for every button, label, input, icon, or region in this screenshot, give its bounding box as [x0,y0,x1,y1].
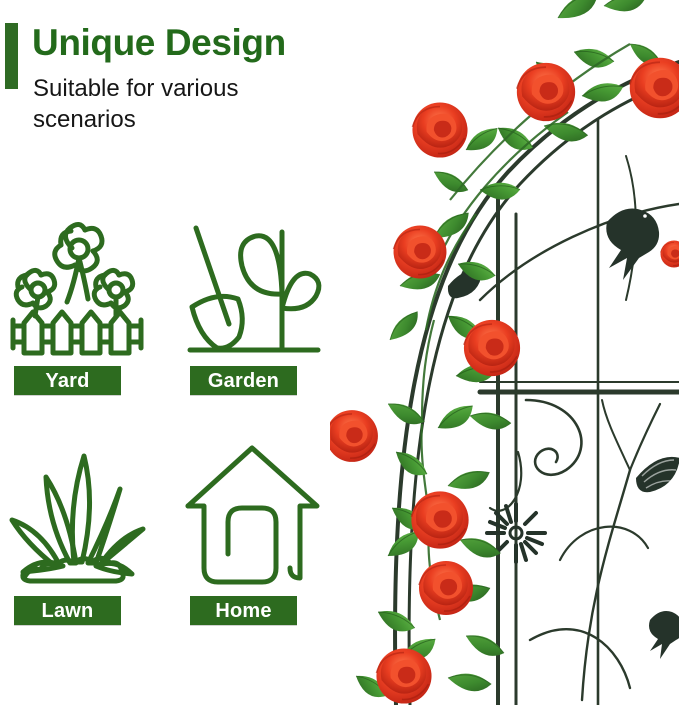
scenario-item-lawn[interactable]: Lawn [8,442,158,637]
rose-bloom [394,226,447,279]
scenario-icon-grid: Yard [0,212,340,632]
rose-bloom [464,320,520,376]
heading-block: Unique Design Suitable for various scena… [5,20,335,142]
info-panel: Unique Design Suitable for various scena… [0,0,340,705]
infographic-root: Unique Design Suitable for various scena… [0,0,679,705]
grass-tuft-icon [8,442,148,590]
page-title: Unique Design [32,20,286,66]
rose-bloom [517,63,575,121]
rose-bloom [412,102,467,157]
scenario-label: Garden [208,371,279,391]
scenario-item-garden[interactable]: Garden [184,212,334,407]
product-photo [330,0,679,705]
shovel-plant-icon [184,212,324,360]
flowers-fence-icon [8,212,148,360]
rose-bloom [419,561,473,615]
scenario-label: Home [215,601,271,621]
page-subtitle: Suitable for various scenarios [33,73,313,135]
accent-bar [5,23,18,89]
scenario-badge-yard: Yard [14,366,121,395]
rose-bloom [411,491,468,548]
product-photo-artwork [330,0,679,705]
scenario-label: Yard [45,371,89,391]
scenario-badge-garden: Garden [190,366,297,395]
scenario-item-home[interactable]: Home [184,442,334,637]
scenario-label: Lawn [42,601,94,621]
rose-bloom [376,648,431,703]
scenario-badge-home: Home [190,596,297,625]
scenario-badge-lawn: Lawn [14,596,121,625]
scenario-item-yard[interactable]: Yard [8,212,158,407]
house-outline-icon [184,442,324,590]
